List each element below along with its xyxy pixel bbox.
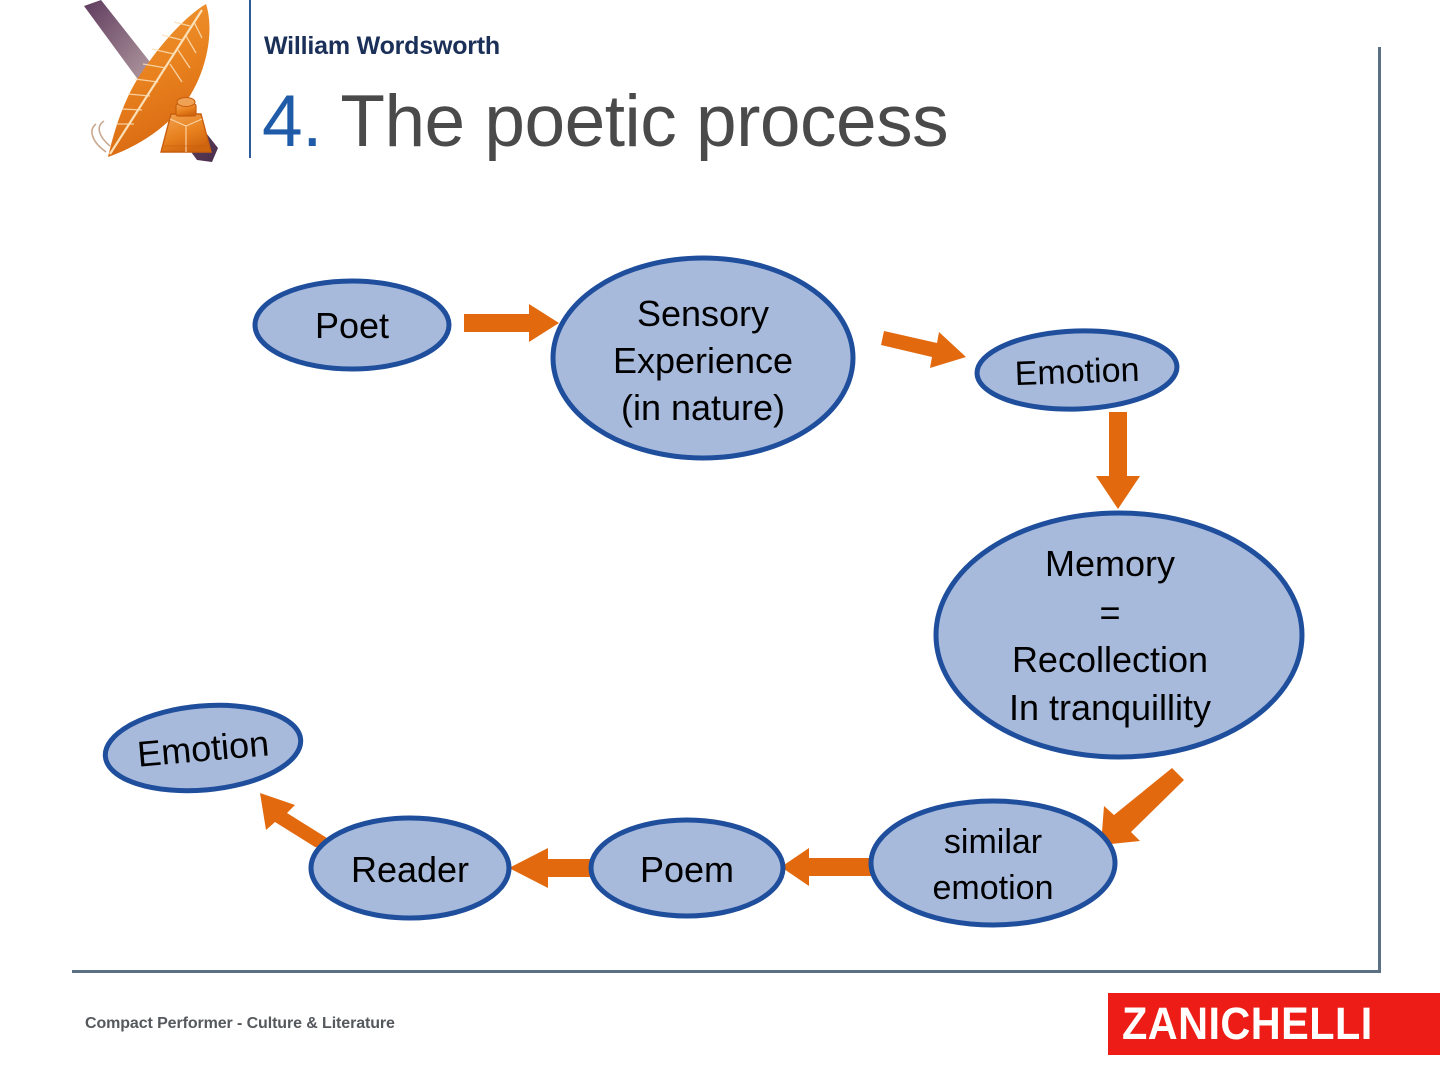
node-sensory-label-line-1: Sensory bbox=[637, 293, 769, 334]
zanichelli-logo: ZANICHELLI bbox=[1108, 993, 1440, 1055]
arrow-reader-to-emotion bbox=[260, 793, 340, 851]
node-memory[interactable]: Memory = Recollection In tranquillity bbox=[936, 513, 1302, 757]
node-memory-label-line-2: = bbox=[1099, 592, 1120, 633]
node-poem[interactable]: Poem bbox=[591, 820, 783, 916]
arrow-poet-to-sensory bbox=[464, 304, 559, 342]
zanichelli-wordmark: ZANICHELLI bbox=[1122, 998, 1373, 1050]
node-poem-label: Poem bbox=[640, 849, 734, 890]
node-emotion-end-label: Emotion bbox=[135, 722, 270, 774]
header-divider bbox=[249, 0, 251, 158]
arrow-emotion-to-memory bbox=[1096, 412, 1140, 509]
node-emotion-top[interactable]: Emotion bbox=[976, 328, 1179, 413]
node-sensory-label-line-3: (in nature) bbox=[621, 387, 785, 428]
frame-right-line bbox=[1378, 47, 1381, 973]
node-sensory-label-line-2: Experience bbox=[613, 340, 793, 381]
node-emotion-top-label: Emotion bbox=[1014, 351, 1140, 393]
page-title: 4. The poetic process bbox=[262, 80, 948, 163]
frame-bottom-line bbox=[72, 970, 1381, 973]
quill-and-inkwell-logo bbox=[66, 0, 238, 175]
arrow-poem-to-reader bbox=[509, 848, 594, 888]
node-reader[interactable]: Reader bbox=[311, 818, 509, 918]
arrow-sensory-to-emotion bbox=[881, 331, 966, 368]
node-emotion-end[interactable]: Emotion bbox=[102, 698, 305, 799]
node-similar-emotion[interactable]: similar emotion bbox=[871, 801, 1115, 925]
node-memory-label-line-4: In tranquillity bbox=[1009, 687, 1211, 728]
diagram-nodes: Poet Sensory Experience (in nature) Emot… bbox=[102, 258, 1302, 925]
node-reader-label: Reader bbox=[351, 849, 469, 890]
diagram-arrows bbox=[260, 304, 1184, 888]
node-poet[interactable]: Poet bbox=[255, 281, 449, 369]
node-similar-emotion-label-line-1: similar bbox=[944, 823, 1042, 861]
node-similar-emotion-label-line-2: emotion bbox=[933, 869, 1054, 907]
arrow-similar-to-poem bbox=[781, 848, 872, 886]
node-sensory-experience[interactable]: Sensory Experience (in nature) bbox=[553, 258, 853, 458]
node-poet-label: Poet bbox=[315, 305, 389, 346]
node-memory-label-line-1: Memory bbox=[1045, 543, 1175, 584]
page-title-text: The poetic process bbox=[322, 81, 948, 162]
page-subtitle: William Wordsworth bbox=[264, 32, 500, 61]
slide-canvas: William Wordsworth 4. The poetic process bbox=[0, 0, 1440, 1080]
node-memory-label-line-3: Recollection bbox=[1012, 639, 1208, 680]
arrow-memory-to-similar-emotion bbox=[1101, 768, 1184, 845]
footer-caption: Compact Performer - Culture & Literature bbox=[85, 1015, 395, 1033]
slide-header: William Wordsworth 4. The poetic process bbox=[0, 0, 1100, 180]
page-title-number: 4. bbox=[262, 81, 322, 162]
